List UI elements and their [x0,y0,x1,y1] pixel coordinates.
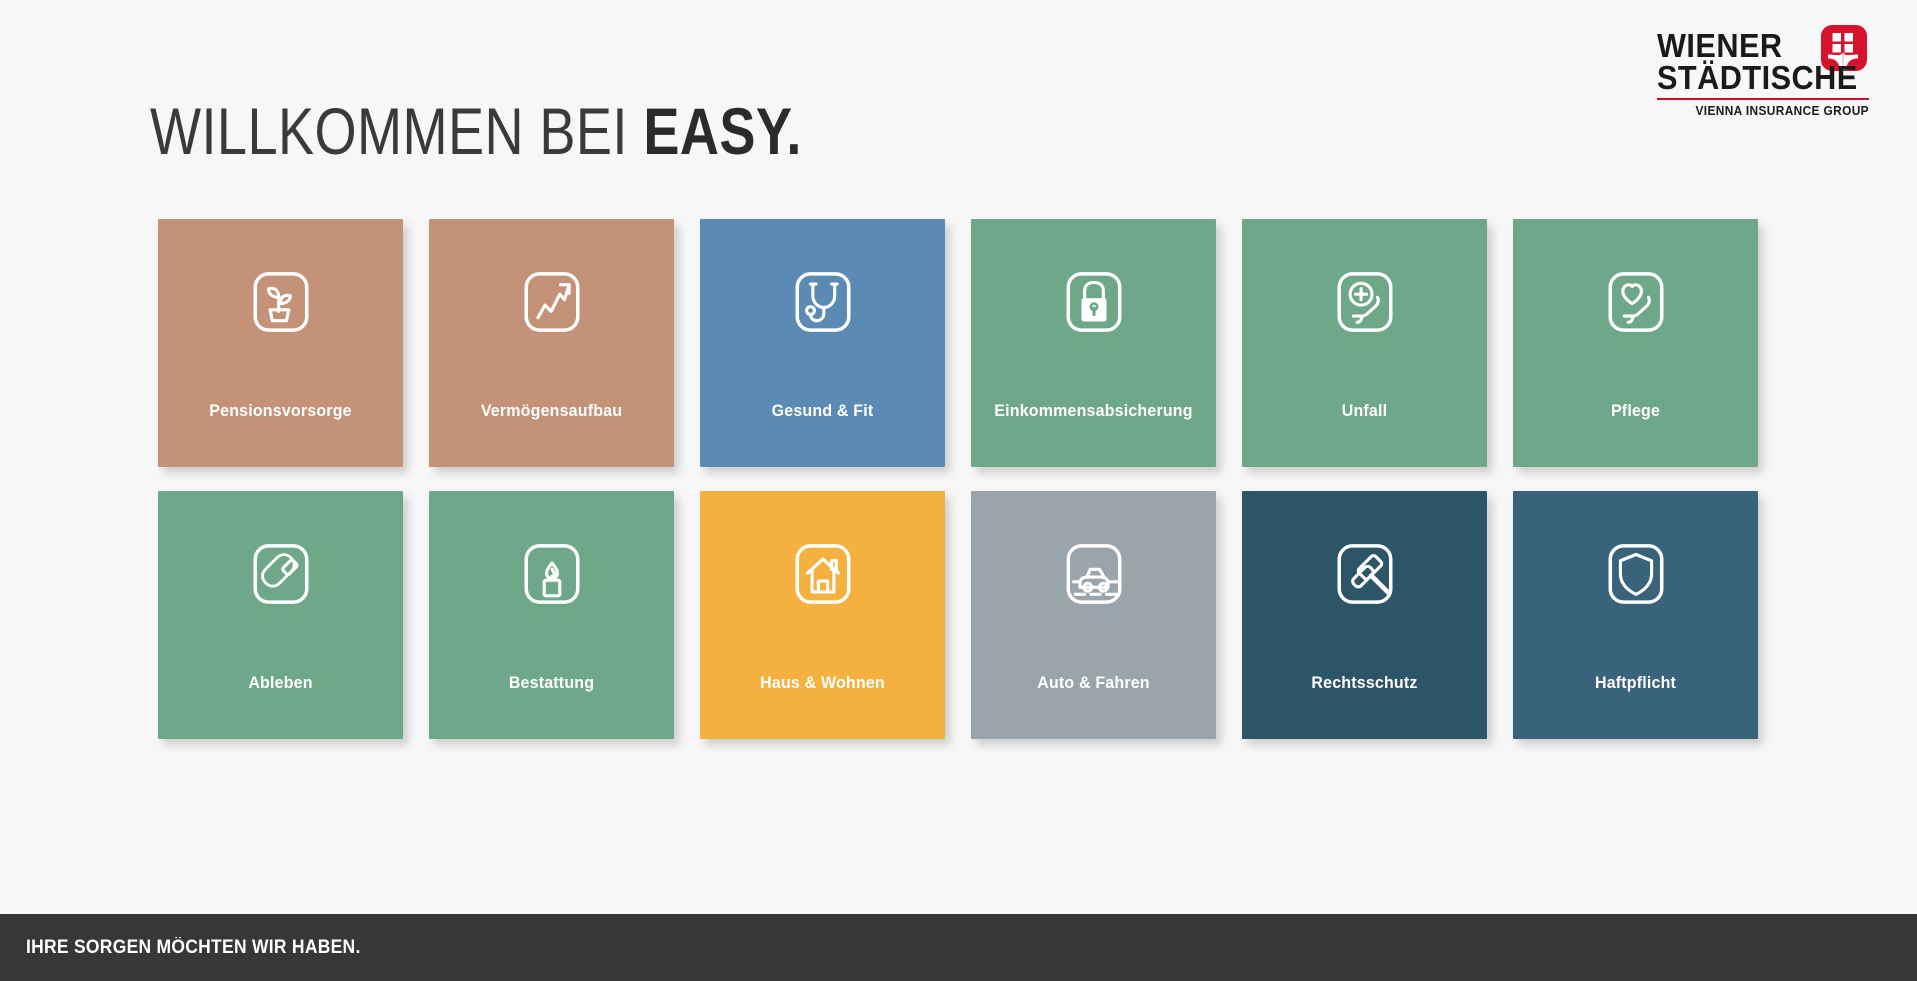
product-tile-8[interactable]: Bestattung [429,491,674,739]
product-tile-label: Haftpflicht [1520,673,1750,693]
product-tile-4[interactable]: Einkommensabsicherung [971,219,1216,467]
product-tile-label: Rechtsschutz [1249,673,1479,693]
potted-plant-icon [242,263,320,341]
footer-bar: IHRE SORGEN MÖCHTEN WIR HABEN. [0,914,1917,981]
house-icon [784,535,862,613]
product-tile-12[interactable]: Haftpflicht [1513,491,1758,739]
stethoscope-icon [784,263,862,341]
product-tile-label: Vermögensaufbau [436,401,666,421]
logo-divider [1657,98,1869,100]
product-tile-1[interactable]: Pensionsvorsorge [158,219,403,467]
shield-icon [1597,535,1675,613]
product-tile-2[interactable]: Vermögensaufbau [429,219,674,467]
product-tile-label: Haus & Wohnen [707,673,937,693]
logo-wordmark: WIENER STÄDTISCHE [1657,30,1854,94]
logo-tagline: VIENNA INSURANCE GROUP [1668,104,1869,118]
product-tile-9[interactable]: Haus & Wohnen [700,491,945,739]
product-tile-label: Einkommensabsicherung [978,401,1208,421]
product-tile-3[interactable]: Gesund & Fit [700,219,945,467]
product-tile-label: Ableben [165,673,395,693]
product-tile-label: Unfall [1249,401,1479,421]
page-title: WILLKOMMEN BEI EASY. [150,98,802,164]
product-tile-7[interactable]: Ableben [158,491,403,739]
page-title-light: WILLKOMMEN BEI [150,94,643,168]
product-tile-label: Pensionsvorsorge [165,401,395,421]
carabiner-clip-icon [242,535,320,613]
growth-chart-arrow-icon [513,263,591,341]
footer-slogan: IHRE SORGEN MÖCHTEN WIR HABEN. [26,937,361,959]
hand-with-medical-cross-icon [1326,263,1404,341]
page-title-bold: EASY. [643,94,801,168]
product-tile-grid: Pensionsvorsorge Vermögensaufbau Gesund … [158,219,1760,739]
product-tile-label: Bestattung [436,673,666,693]
car-icon [1055,535,1133,613]
product-tile-5[interactable]: Unfall [1242,219,1487,467]
padlock-icon [1055,263,1133,341]
product-tile-label: Gesund & Fit [707,401,937,421]
logo-line-2: STÄDTISCHE [1657,62,1854,94]
candle-icon [513,535,591,613]
gavel-icon [1326,535,1404,613]
product-tile-10[interactable]: Auto & Fahren [971,491,1216,739]
product-tile-6[interactable]: Pflege [1513,219,1758,467]
product-tile-label: Auto & Fahren [978,673,1208,693]
hand-with-heart-icon [1597,263,1675,341]
brand-logo: WIENER STÄDTISCHE VIENNA INSURANCE GROUP [1657,30,1869,118]
product-tile-11[interactable]: Rechtsschutz [1242,491,1487,739]
product-tile-label: Pflege [1520,401,1750,421]
